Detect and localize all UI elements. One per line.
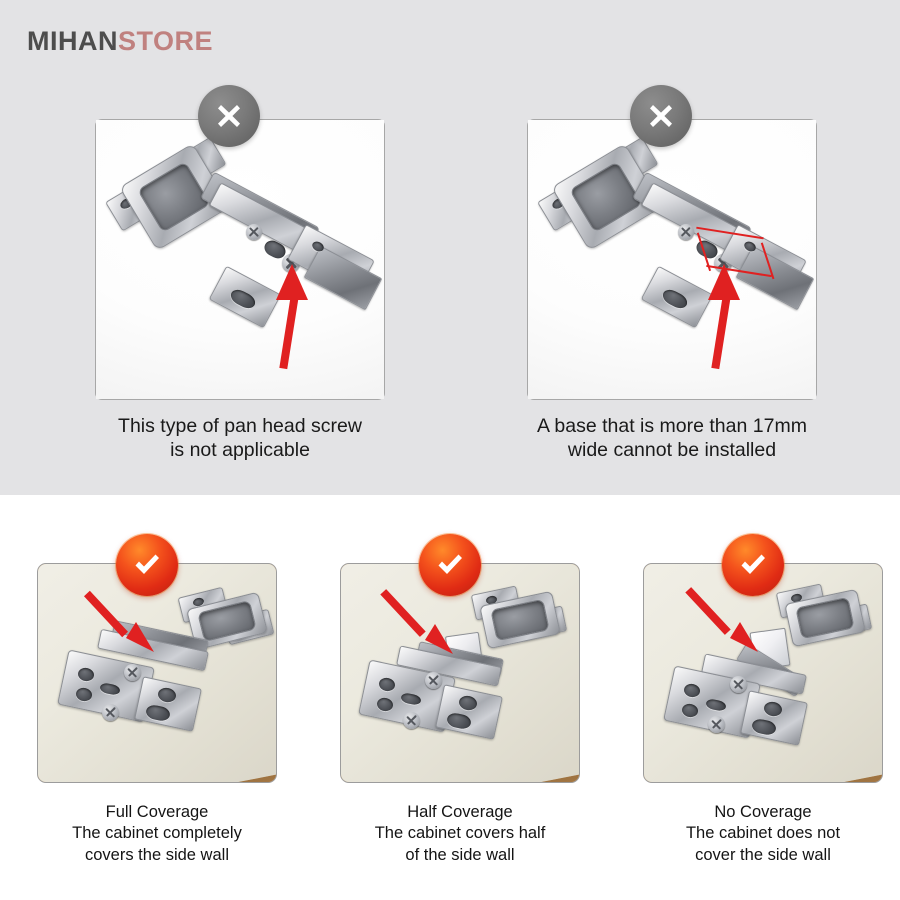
check-mark-icon <box>419 534 481 596</box>
check-mark-icon <box>116 534 178 596</box>
photo-scene-studio <box>96 120 384 399</box>
brand-logo: MIHANSTORE <box>27 28 213 55</box>
photo-scene-board <box>644 564 882 782</box>
photo-scene-studio <box>528 120 816 399</box>
card-photo-panel-half-coverage <box>340 563 580 783</box>
arm-screw-rear <box>246 224 262 240</box>
card-photo-panel-no-coverage <box>643 563 883 783</box>
caption-line-2: is not applicable <box>45 439 435 463</box>
caption-base-width: A base that is more than 17mm wide canno… <box>477 415 867 463</box>
caption-title: Half Coverage <box>310 802 610 823</box>
caption-line-1: The cabinet covers half <box>310 823 610 844</box>
card-photo-panel-pan-head-screw <box>95 119 385 400</box>
caption-half-coverage: Half Coverage The cabinet covers half of… <box>310 802 610 866</box>
brand-logo-primary: MIHAN <box>27 26 118 56</box>
brand-logo-secondary: STORE <box>118 26 213 56</box>
caption-full-coverage: Full Coverage The cabinet completely cov… <box>7 802 307 866</box>
photo-scene-board <box>38 564 276 782</box>
photo-scene-board <box>341 564 579 782</box>
card-photo-panel-base-width <box>527 119 817 400</box>
caption-line-2: covers the side wall <box>7 845 307 866</box>
check-mark-icon <box>722 534 784 596</box>
caption-title: Full Coverage <box>7 802 307 823</box>
infographic-page: MIHANSTORE <box>0 0 900 900</box>
caption-line-2: cover the side wall <box>613 845 900 866</box>
caption-no-coverage: No Coverage The cabinet does not cover t… <box>613 802 900 866</box>
caption-line-1: The cabinet completely <box>7 823 307 844</box>
x-mark-icon <box>630 85 692 147</box>
caption-line-1: The cabinet does not <box>613 823 900 844</box>
caption-line-1: This type of pan head screw <box>45 415 435 439</box>
caption-line-2: wide cannot be installed <box>477 439 867 463</box>
caption-line-1: A base that is more than 17mm <box>477 415 867 439</box>
caption-title: No Coverage <box>613 802 900 823</box>
caption-line-2: of the side wall <box>310 845 610 866</box>
card-photo-panel-full-coverage <box>37 563 277 783</box>
x-mark-icon <box>198 85 260 147</box>
caption-pan-head-screw: This type of pan head screw is not appli… <box>45 415 435 463</box>
